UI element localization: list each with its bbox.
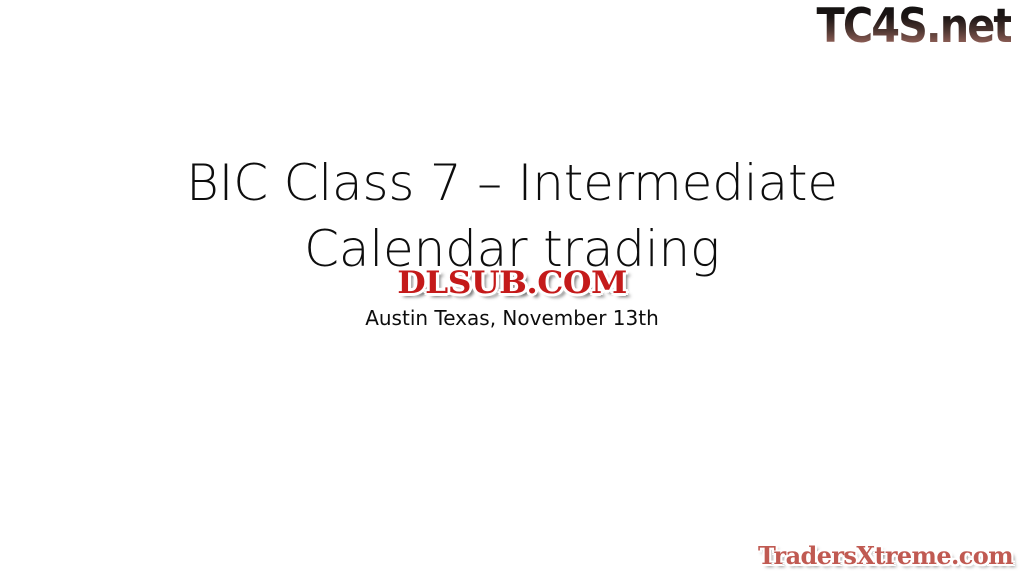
- watermark-tradersxtreme: TradersXtreme.com: [758, 544, 1013, 568]
- watermark-dlsub: DLSUB.COM: [397, 268, 627, 299]
- page-title: BIC Class 7 – Intermediate Calendar trad…: [132, 150, 892, 282]
- presentation-slide: BIC Class 7 – Intermediate Calendar trad…: [0, 0, 1024, 576]
- slide-subtitle: Austin Texas, November 13th: [132, 306, 892, 330]
- watermark-tc4s: TC4S.net: [816, 3, 1011, 50]
